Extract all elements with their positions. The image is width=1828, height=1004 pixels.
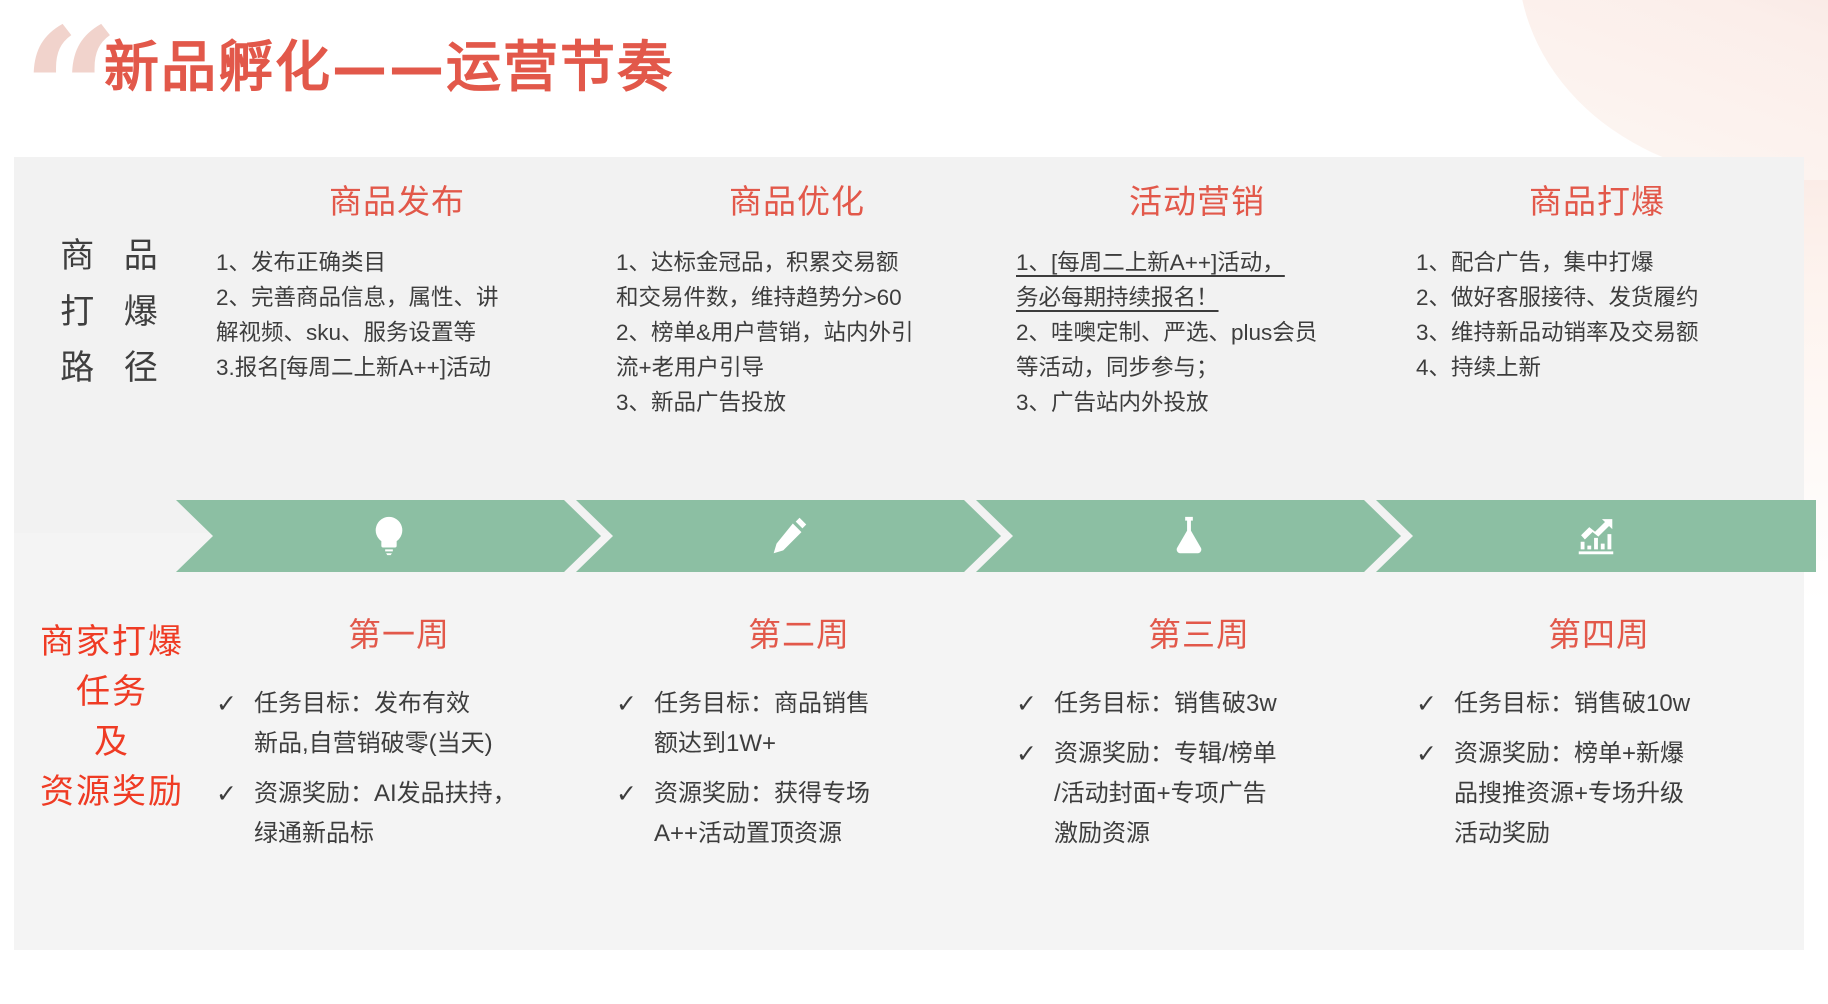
flask-icon <box>1166 513 1212 559</box>
stage-line: 2、哇噢定制、严选、plus会员 <box>1016 315 1378 350</box>
stage-title: 商品打爆 <box>1416 175 1778 223</box>
week-title: 第一周 <box>216 608 582 656</box>
stage-line: 1、[每周二上新A++]活动， <box>1016 245 1378 280</box>
stage-line: 3.报名[每周二上新A++]活动 <box>216 350 578 385</box>
stage-line: 3、新品广告投放 <box>616 385 978 420</box>
week-task-line: 激励资源 <box>1054 814 1277 854</box>
week-task-line: 任务目标：发布有效 <box>254 684 493 724</box>
stage-line: 1、达标金冠品，积累交易额 <box>616 245 978 280</box>
stage-line: 解视频、sku、服务设置等 <box>216 315 578 350</box>
stage-title: 商品发布 <box>216 175 578 223</box>
week-task-line: 额达到1W+ <box>654 724 870 764</box>
week-task-line: /活动封面+专项广告 <box>1054 774 1277 814</box>
week-columns: 第一周✓任务目标：发布有效新品,自营销破零(当天)✓资源奖励：AI发品扶持，绿通… <box>196 608 1796 938</box>
stage-line: 流+老用户引导 <box>616 350 978 385</box>
week-task-line: A++活动置顶资源 <box>654 814 870 854</box>
check-icon: ✓ <box>1016 734 1054 774</box>
stage-line: 3、广告站内外投放 <box>1016 385 1378 420</box>
week-task-line: 绿通新品标 <box>254 814 517 854</box>
row-label-product-path: 商 品 打 爆 路 径 <box>34 228 194 396</box>
stage-column-4: 商品打爆1、配合广告，集中打爆2、做好客服接待、发货履约3、维持新品动销率及交易… <box>1396 175 1796 460</box>
week-column-2: 第二周✓任务目标：商品销售额达到1W+✓资源奖励：获得专场A++活动置顶资源 <box>596 608 996 938</box>
quote-mark-icon: “ <box>22 6 106 176</box>
stage-title: 商品优化 <box>616 175 978 223</box>
stage-line: 1、配合广告，集中打爆 <box>1416 245 1778 280</box>
week-title: 第四周 <box>1416 608 1782 656</box>
week-task-item: ✓资源奖励：榜单+新爆品搜推资源+专场升级活动奖励 <box>1416 734 1782 854</box>
stage-column-1: 商品发布1、发布正确类目2、完善商品信息，属性、讲解视频、sku、服务设置等3.… <box>196 175 596 460</box>
row-label-line: 及 <box>22 717 202 767</box>
pen-nib-icon <box>766 513 812 559</box>
week-task-line: 活动奖励 <box>1454 814 1684 854</box>
week-task-line: 资源奖励：榜单+新爆 <box>1454 734 1684 774</box>
check-icon: ✓ <box>1416 734 1454 774</box>
week-task-item: ✓任务目标：发布有效新品,自营销破零(当天) <box>216 684 582 764</box>
week-column-1: 第一周✓任务目标：发布有效新品,自营销破零(当天)✓资源奖励：AI发品扶持，绿通… <box>196 608 596 938</box>
stage-line: 2、完善商品信息，属性、讲 <box>216 280 578 315</box>
stage-line: 3、维持新品动销率及交易额 <box>1416 315 1778 350</box>
week-task-text: 任务目标：发布有效新品,自营销破零(当天) <box>254 684 493 764</box>
stage-line: 4、持续上新 <box>1416 350 1778 385</box>
week-task-item: ✓资源奖励：专辑/榜单/活动封面+专项广告激励资源 <box>1016 734 1382 854</box>
week-task-text: 任务目标：销售破10w <box>1454 684 1690 724</box>
week-task-item: ✓任务目标：销售破3w <box>1016 684 1382 724</box>
stage-body: 1、达标金冠品，积累交易额和交易件数，维持趋势分>602、榜单&用户营销，站内外… <box>616 245 978 420</box>
stage-body: 1、发布正确类目2、完善商品信息，属性、讲解视频、sku、服务设置等3.报名[每… <box>216 245 578 385</box>
stage-column-2: 商品优化1、达标金冠品，积累交易额和交易件数，维持趋势分>602、榜单&用户营销… <box>596 175 996 460</box>
stage-chevron-2 <box>576 500 1001 572</box>
stage-chevron-banner <box>176 500 1776 572</box>
row-label-line: 打 爆 <box>34 284 194 340</box>
stage-title: 活动营销 <box>1016 175 1378 223</box>
stage-columns: 商品发布1、发布正确类目2、完善商品信息，属性、讲解视频、sku、服务设置等3.… <box>196 175 1796 460</box>
stage-line: 和交易件数，维持趋势分>60 <box>616 280 978 315</box>
row-label-line: 商家打爆 <box>22 617 202 667</box>
stage-line: 1、发布正确类目 <box>216 245 578 280</box>
stage-chevron-3 <box>976 500 1401 572</box>
stage-line: 务必每期持续报名！ <box>1016 280 1378 315</box>
stage-chevron-4 <box>1376 500 1816 572</box>
check-icon: ✓ <box>216 684 254 724</box>
check-icon: ✓ <box>1016 684 1054 724</box>
page-title: 新品孵化——运营节奏 <box>104 22 674 102</box>
week-task-text: 资源奖励：获得专场A++活动置顶资源 <box>654 774 870 854</box>
week-column-3: 第三周✓任务目标：销售破3w✓资源奖励：专辑/榜单/活动封面+专项广告激励资源 <box>996 608 1396 938</box>
slide-header: “ 新品孵化——运营节奏 <box>0 0 1828 130</box>
week-title: 第二周 <box>616 608 982 656</box>
stage-body: 1、[每周二上新A++]活动，务必每期持续报名！2、哇噢定制、严选、plus会员… <box>1016 245 1378 420</box>
week-task-text: 资源奖励：专辑/榜单/活动封面+专项广告激励资源 <box>1054 734 1277 854</box>
week-title: 第三周 <box>1016 608 1382 656</box>
week-task-text: 任务目标：商品销售额达到1W+ <box>654 684 870 764</box>
row-label-line: 任务 <box>22 667 202 717</box>
week-task-line: 新品,自营销破零(当天) <box>254 724 493 764</box>
row-label-line: 资源奖励 <box>22 767 202 817</box>
stage-line: 2、做好客服接待、发货履约 <box>1416 280 1778 315</box>
week-task-line: 资源奖励：AI发品扶持， <box>254 774 517 814</box>
stage-line: 2、榜单&用户营销，站内外引 <box>616 315 978 350</box>
week-task-line: 资源奖励：获得专场 <box>654 774 870 814</box>
week-task-line: 品搜推资源+专场升级 <box>1454 774 1684 814</box>
week-task-text: 资源奖励：榜单+新爆品搜推资源+专场升级活动奖励 <box>1454 734 1684 854</box>
row-label-merchant-tasks: 商家打爆 任务 及 资源奖励 <box>22 617 202 817</box>
row-label-line: 商 品 <box>34 228 194 284</box>
week-task-line: 任务目标：商品销售 <box>654 684 870 724</box>
check-icon: ✓ <box>616 774 654 814</box>
row-label-line: 路 径 <box>34 340 194 396</box>
week-task-item: ✓任务目标：商品销售额达到1W+ <box>616 684 982 764</box>
stage-body: 1、配合广告，集中打爆2、做好客服接待、发货履约3、维持新品动销率及交易额4、持… <box>1416 245 1778 385</box>
week-task-text: 任务目标：销售破3w <box>1054 684 1277 724</box>
week-task-item: ✓任务目标：销售破10w <box>1416 684 1782 724</box>
stage-chevron-1 <box>176 500 601 572</box>
check-icon: ✓ <box>216 774 254 814</box>
check-icon: ✓ <box>1416 684 1454 724</box>
check-icon: ✓ <box>616 684 654 724</box>
week-task-text: 资源奖励：AI发品扶持，绿通新品标 <box>254 774 517 854</box>
week-task-line: 任务目标：销售破3w <box>1054 684 1277 724</box>
week-task-item: ✓资源奖励：AI发品扶持，绿通新品标 <box>216 774 582 854</box>
week-task-line: 任务目标：销售破10w <box>1454 684 1690 724</box>
week-column-4: 第四周✓任务目标：销售破10w✓资源奖励：榜单+新爆品搜推资源+专场升级活动奖励 <box>1396 608 1796 938</box>
stage-column-3: 活动营销1、[每周二上新A++]活动，务必每期持续报名！2、哇噢定制、严选、pl… <box>996 175 1396 460</box>
growth-chart-icon <box>1573 513 1619 559</box>
stage-line: 等活动，同步参与； <box>1016 350 1378 385</box>
week-task-line: 资源奖励：专辑/榜单 <box>1054 734 1277 774</box>
lightbulb-icon <box>366 513 412 559</box>
week-task-item: ✓资源奖励：获得专场A++活动置顶资源 <box>616 774 982 854</box>
